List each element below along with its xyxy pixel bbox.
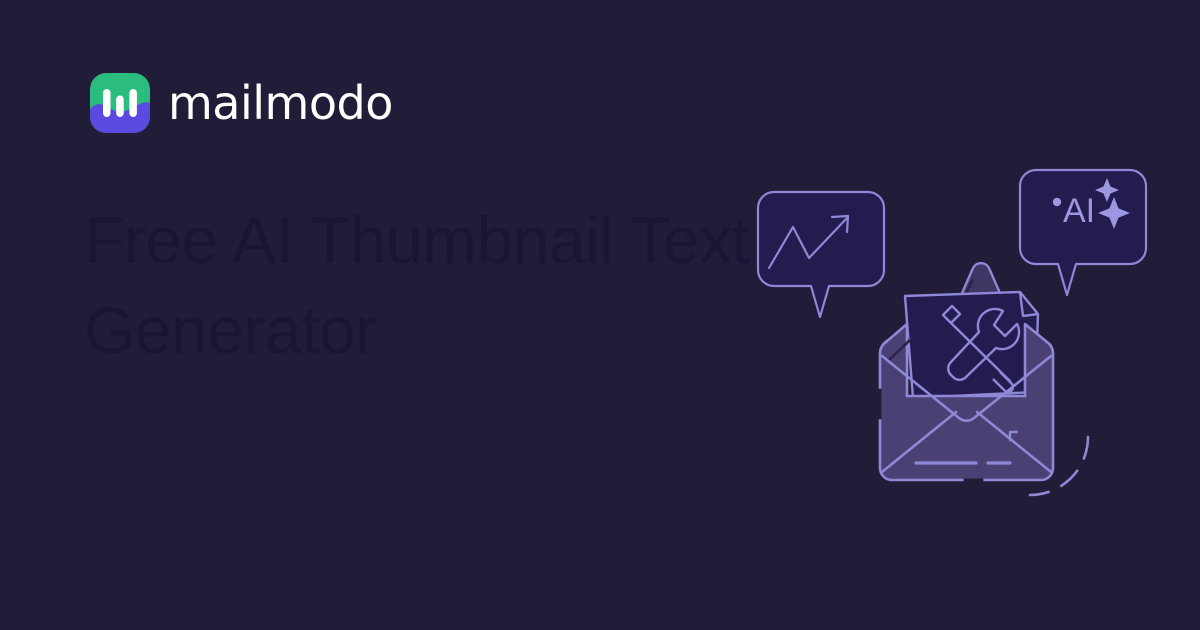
hero-illustration: AI: [720, 150, 1190, 550]
page-title: Free AI Thumbnail Text Generator: [84, 196, 784, 376]
mailmodo-logo-icon: [90, 73, 150, 133]
ai-dot-icon: [1053, 198, 1061, 206]
chart-speech-bubble: [758, 192, 884, 317]
ai-bubble-label: AI: [1063, 192, 1095, 230]
ai-speech-bubble: AI: [1020, 170, 1146, 295]
og-image-canvas: mailmodo Free AI Thumbnail Text Generato…: [0, 0, 1200, 630]
brand-wordmark: mailmodo: [168, 80, 393, 126]
brand-logo[interactable]: mailmodo: [90, 73, 393, 133]
